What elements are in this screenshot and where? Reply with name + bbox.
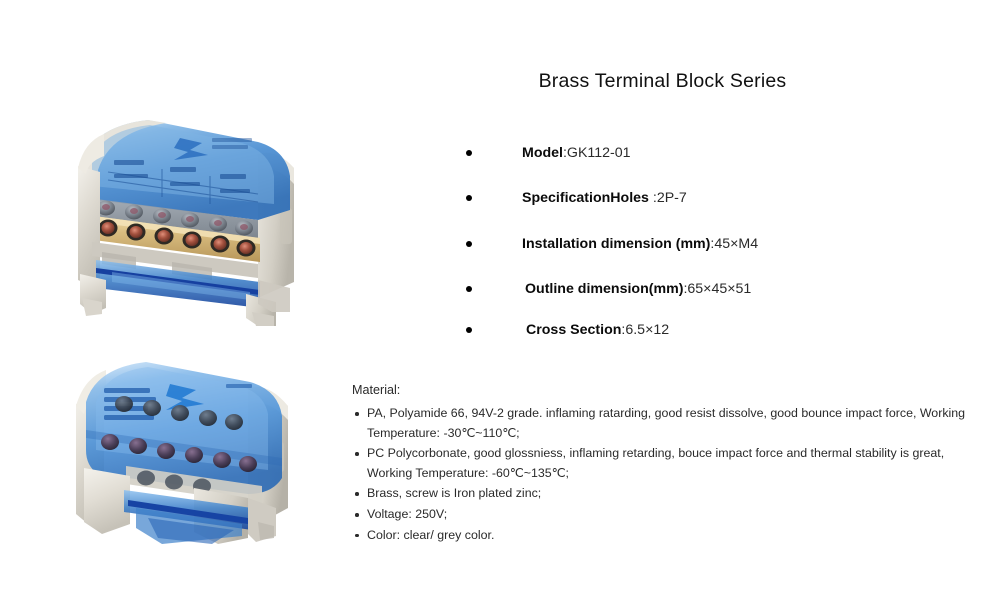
bullet-icon bbox=[355, 513, 359, 517]
spec-key: Model bbox=[522, 145, 563, 161]
spec-key: Outline dimension(mm) bbox=[525, 281, 683, 297]
spec-value: :45×M4 bbox=[710, 236, 758, 252]
bullet-icon bbox=[466, 150, 472, 156]
bullet-icon bbox=[355, 412, 359, 416]
material-item-pa: PA, Polyamide 66, 94V-2 grade. inflaming… bbox=[352, 404, 972, 443]
material-list: PA, Polyamide 66, 94V-2 grade. inflaming… bbox=[352, 404, 972, 545]
terminal-block-illustration-1 bbox=[62, 112, 312, 327]
material-item-text: PC Polycorbonate, good glossniess, infla… bbox=[367, 446, 944, 480]
material-item-brass: Brass, screw is Iron plated zinc; bbox=[352, 484, 972, 504]
terminal-block-illustration-2 bbox=[62, 358, 312, 558]
bullet-icon bbox=[466, 327, 472, 333]
bullet-icon bbox=[355, 452, 359, 456]
product-photo-open-view bbox=[62, 112, 312, 327]
material-item-text: Voltage: 250V; bbox=[367, 507, 447, 521]
specification-list: Model:GK112-01 SpecificationHoles :2P-7 … bbox=[466, 143, 926, 344]
material-section: Material: PA, Polyamide 66, 94V-2 grade.… bbox=[352, 381, 972, 546]
bullet-icon bbox=[466, 286, 472, 292]
spec-item-model: Model:GK112-01 bbox=[466, 143, 926, 167]
material-item-text: Brass, screw is Iron plated zinc; bbox=[367, 486, 541, 500]
material-item-color: Color: clear/ grey color. bbox=[352, 526, 972, 546]
spec-item-outline-dimension: Outline dimension(mm):65×45×51 bbox=[466, 279, 926, 303]
spec-item-cross-section: Cross Section:6.5×12 bbox=[466, 320, 926, 344]
page-title: Brass Terminal Block Series bbox=[430, 70, 895, 93]
spec-text: SpecificationHoles :2P-7 bbox=[466, 188, 687, 208]
bullet-icon bbox=[355, 492, 359, 496]
spec-value: :65×45×51 bbox=[683, 281, 751, 297]
product-photo-closed-view bbox=[62, 358, 312, 558]
spec-text: Outline dimension(mm):65×45×51 bbox=[466, 279, 751, 299]
spec-key: Cross Section bbox=[526, 322, 621, 338]
material-item-text: Color: clear/ grey color. bbox=[367, 528, 494, 542]
spec-text: Model:GK112-01 bbox=[466, 143, 631, 163]
bullet-icon bbox=[466, 241, 472, 247]
spec-value: :6.5×12 bbox=[621, 322, 669, 338]
spec-item-installation-dimension: Installation dimension (mm):45×M4 bbox=[466, 234, 926, 258]
spec-text: Installation dimension (mm):45×M4 bbox=[466, 234, 758, 254]
spec-item-specification-holes: SpecificationHoles :2P-7 bbox=[466, 188, 926, 212]
bullet-icon bbox=[466, 195, 472, 201]
spec-text: Cross Section:6.5×12 bbox=[466, 320, 669, 340]
spec-value: :2P-7 bbox=[649, 190, 687, 206]
material-item-text: PA, Polyamide 66, 94V-2 grade. inflaming… bbox=[367, 406, 965, 440]
spec-value: :GK112-01 bbox=[563, 145, 631, 161]
spec-key: SpecificationHoles bbox=[522, 190, 649, 206]
spec-key: Installation dimension (mm) bbox=[522, 236, 710, 252]
material-heading: Material: bbox=[352, 381, 972, 400]
material-item-voltage: Voltage: 250V; bbox=[352, 505, 972, 525]
material-item-pc: PC Polycorbonate, good glossniess, infla… bbox=[352, 444, 972, 483]
bullet-icon bbox=[355, 534, 359, 538]
